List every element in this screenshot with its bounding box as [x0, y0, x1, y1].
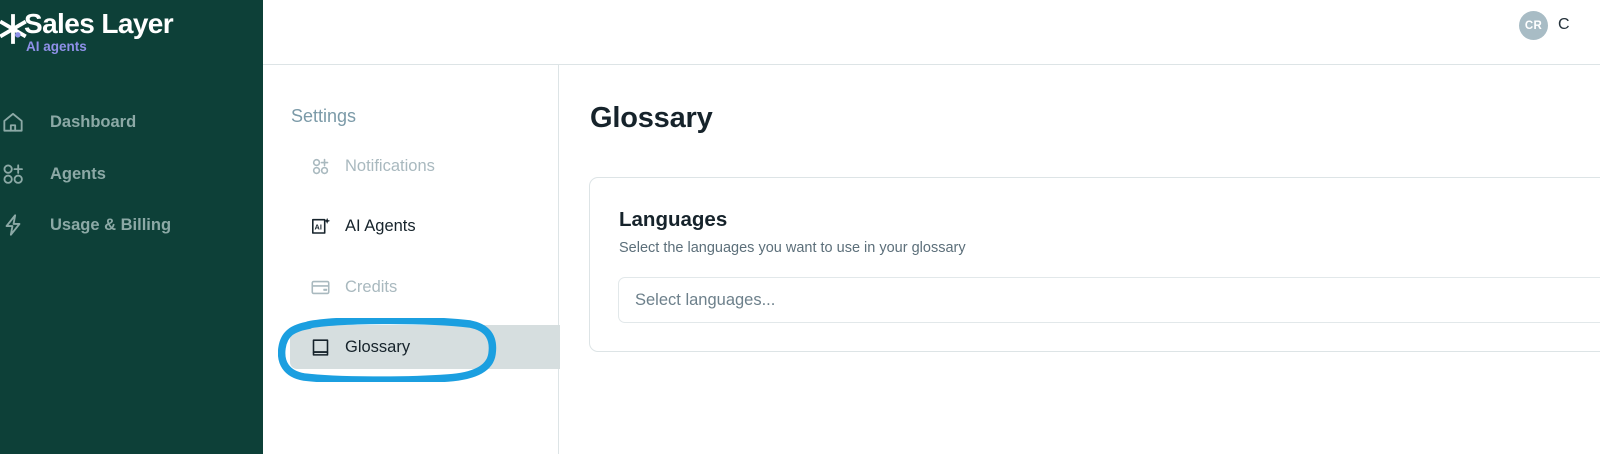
card-subtitle: Select the languages you want to use in … — [619, 240, 966, 256]
settings-nav-panel: Settings Notifications AI AI Agents — [263, 65, 559, 454]
settings-item-label: Glossary — [345, 338, 410, 357]
settings-item-label: AI Agents — [345, 217, 416, 236]
sidebar-item-label: Agents — [50, 165, 106, 184]
primary-sidebar: Sales Layer AI agents Dashboard Agents — [0, 0, 263, 454]
sidebar-item-agents[interactable]: Agents — [0, 154, 263, 194]
sidebar-item-usage-billing[interactable]: Usage & Billing — [0, 205, 263, 245]
agents-add-icon — [0, 161, 26, 187]
home-icon — [0, 109, 26, 135]
avatar[interactable]: CR — [1519, 11, 1548, 40]
language-select-placeholder: Select languages... — [635, 291, 775, 310]
brand-subtitle: AI agents — [26, 39, 173, 54]
avatar-initials: CR — [1525, 20, 1542, 32]
settings-item-glossary[interactable]: Glossary — [290, 325, 569, 369]
page-title: Glossary — [590, 102, 713, 135]
language-select-input[interactable]: Select languages... — [618, 277, 1600, 323]
settings-item-ai-agents[interactable]: AI AI Agents — [290, 204, 569, 248]
ai-agents-sparkle-icon: AI — [310, 216, 331, 237]
sidebar-item-label: Dashboard — [50, 113, 136, 132]
settings-item-label: Notifications — [345, 157, 435, 176]
app-window: Sales Layer AI agents Dashboard Agents — [0, 0, 1600, 454]
brand-logo[interactable]: Sales Layer AI agents — [0, 8, 263, 60]
lightning-bolt-icon — [0, 212, 26, 238]
user-name-label[interactable]: C — [1558, 16, 1600, 34]
sidebar-item-label: Usage & Billing — [50, 216, 171, 235]
svg-text:AI: AI — [315, 222, 322, 231]
settings-item-notifications[interactable]: Notifications — [290, 144, 569, 188]
settings-heading: Settings — [291, 106, 356, 127]
languages-card: Languages Select the languages you want … — [589, 177, 1600, 352]
brand-text: Sales Layer AI agents — [24, 8, 173, 54]
card-title: Languages — [619, 208, 727, 232]
main-content: Glossary Languages Select the languages … — [560, 65, 1600, 454]
settings-item-label: Credits — [345, 278, 397, 297]
settings-item-credits[interactable]: Credits — [290, 265, 569, 309]
book-icon — [310, 337, 331, 358]
credit-card-icon — [310, 277, 331, 298]
brand-name: Sales Layer — [24, 8, 173, 40]
notifications-grid-icon — [310, 156, 331, 177]
sidebar-item-dashboard[interactable]: Dashboard — [0, 102, 263, 142]
top-bar: CR C — [263, 0, 1600, 65]
